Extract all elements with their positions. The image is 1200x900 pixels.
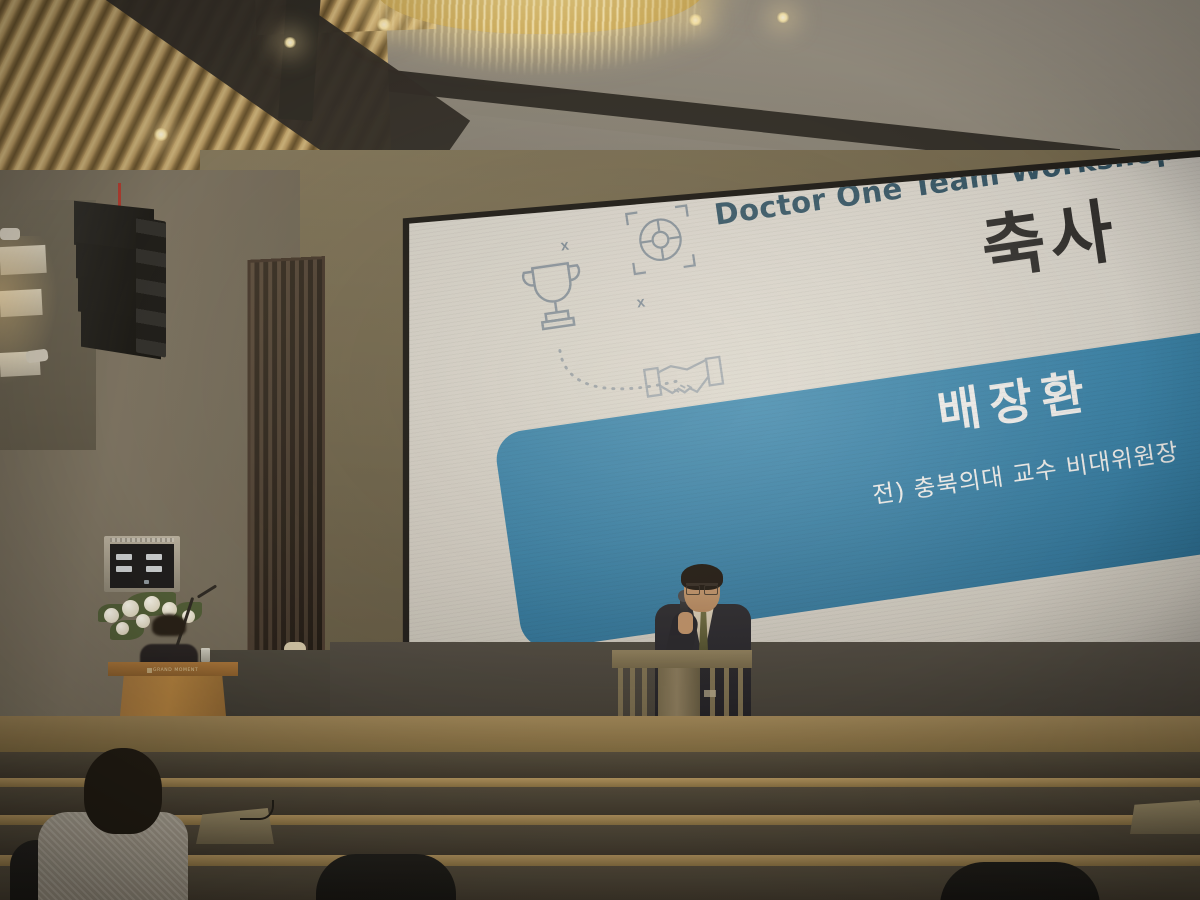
- lattice-sheen: [251, 259, 322, 677]
- chandelier-crystal-drops: [379, 0, 701, 76]
- speaker-side-drivers: [136, 216, 166, 357]
- speaker-rigging-icon: [118, 183, 121, 207]
- rack-indicator: [144, 580, 149, 584]
- step-riser: [0, 787, 1200, 815]
- audience-chair: [316, 854, 456, 900]
- step-riser: [0, 752, 1200, 778]
- podium-brand-label: GRAND MOMENT: [153, 668, 198, 673]
- audience-chair: [940, 862, 1100, 900]
- projection-screen: Doctor One Team Workshop in Busan 축사: [398, 150, 1200, 720]
- rack-button[interactable]: [146, 554, 162, 560]
- ceiling-spotlight-icon: [0, 228, 20, 240]
- alcove-warm-glow: [0, 236, 58, 386]
- rack-button[interactable]: [116, 554, 132, 560]
- screen-vignette: [402, 150, 1200, 716]
- speaker-hand: [678, 612, 693, 634]
- water-glass: [201, 648, 210, 662]
- av-control-rack[interactable]: [104, 536, 180, 592]
- screen-surface: Doctor One Team Workshop in Busan 축사: [402, 150, 1200, 716]
- stage-wall: [330, 642, 1200, 722]
- rack-button[interactable]: [116, 566, 132, 572]
- rack-button[interactable]: [146, 566, 162, 572]
- downlight-icon: [776, 12, 790, 23]
- lectern-logo-icon: [704, 690, 716, 697]
- stage-floor-edge: [0, 716, 1200, 756]
- step-tread: [0, 778, 1200, 787]
- podium-logo-mark-icon: [147, 668, 152, 673]
- wood-lattice-screen: [248, 256, 325, 680]
- conference-hall-photo: Doctor One Team Workshop in Busan 축사: [0, 0, 1200, 900]
- downlight-icon: [153, 128, 169, 141]
- lectern-top: [612, 650, 752, 668]
- downlight-icon: [283, 37, 297, 48]
- glasses-icon: [686, 583, 718, 591]
- rack-vent-strip: [110, 538, 174, 542]
- crystal-chandelier: [375, 0, 705, 88]
- line-array-speaker: [74, 205, 166, 365]
- stage-monitor-speaker: [1130, 800, 1200, 834]
- audience-member-head: [84, 748, 162, 834]
